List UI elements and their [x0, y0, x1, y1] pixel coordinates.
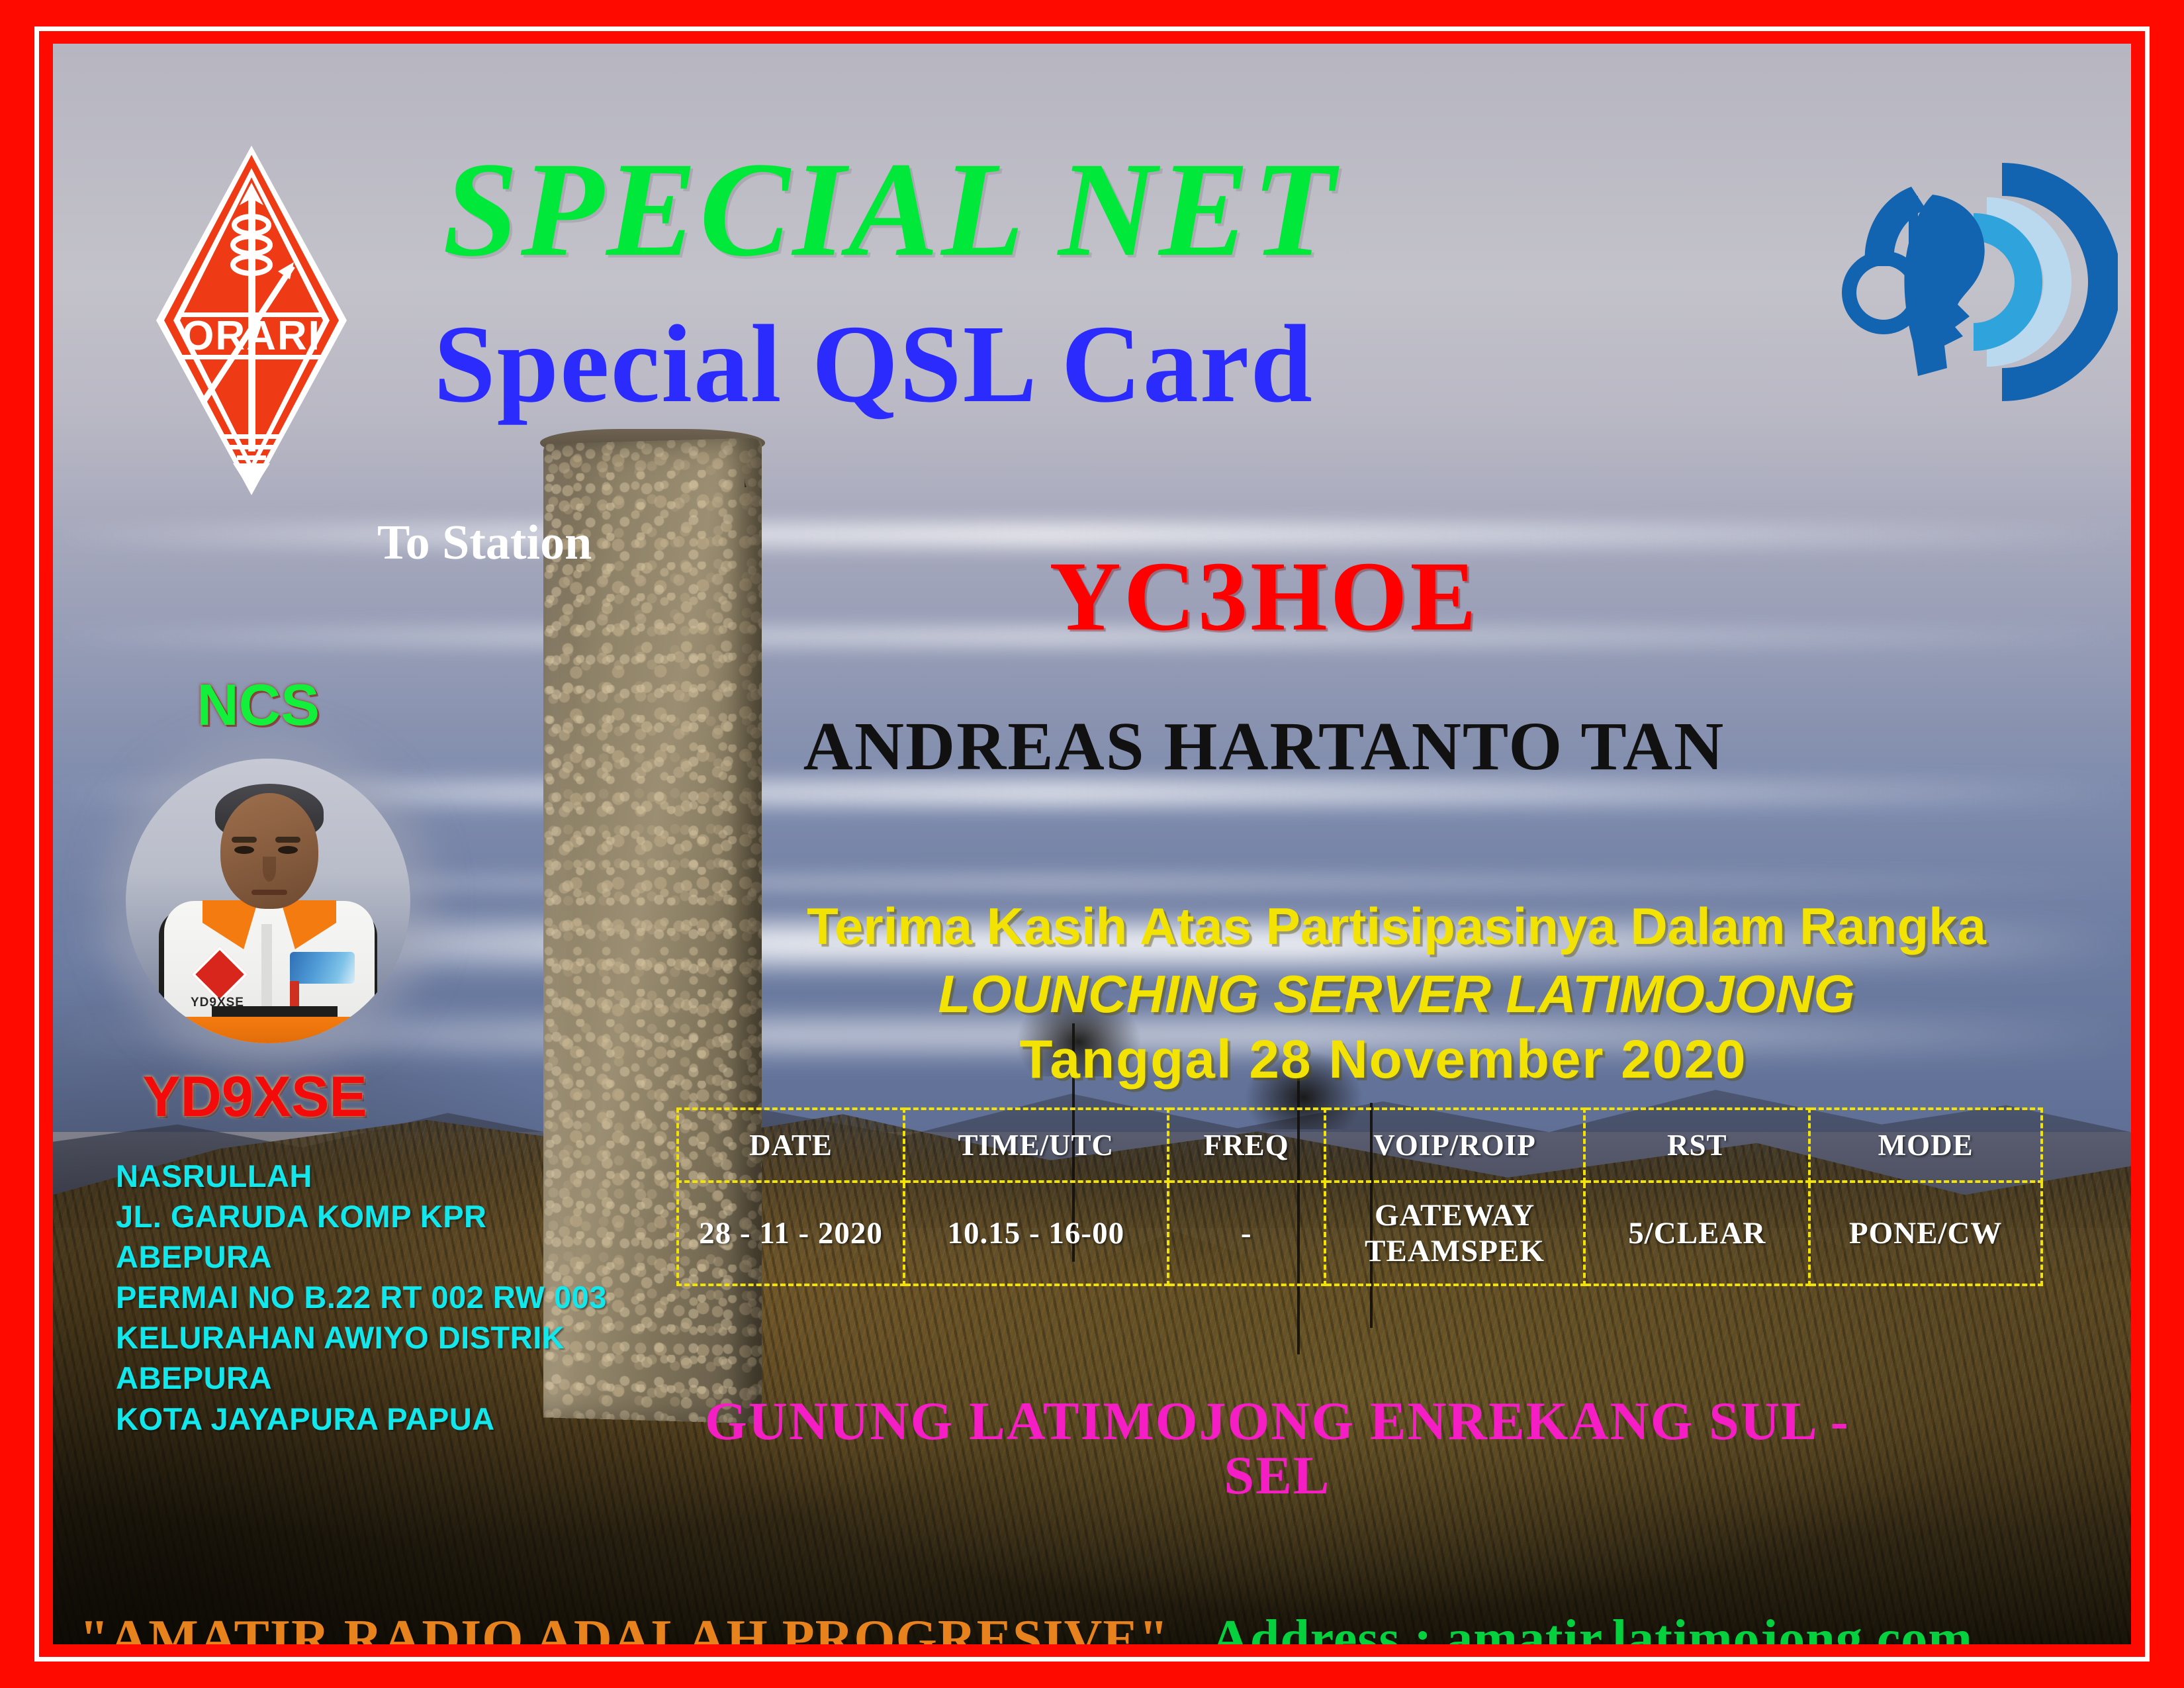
table-row: 28 - 11 - 2020 10.15 - 16-00 - GATEWAY T… — [678, 1182, 2042, 1285]
address-line: JL. GARUDA KOMP KPR — [116, 1196, 639, 1237]
column-header-voip: VOIP/ROIP — [1325, 1109, 1585, 1182]
cell-rst: 5/CLEAR — [1584, 1182, 1809, 1285]
cell-freq: - — [1168, 1182, 1325, 1285]
column-header-date: DATE — [678, 1109, 904, 1182]
address-line: ABEPURA — [116, 1237, 639, 1277]
event-line: LOUNCHING SERVER LATIMOJONG — [768, 965, 2025, 1023]
column-header-rst: RST — [1584, 1109, 1809, 1182]
address-line: ABEPURA — [116, 1358, 639, 1398]
event-date-line: Tanggal 28 November 2020 — [768, 1030, 1999, 1090]
address-line: PERMAI NO B.22 RT 002 RW 003 — [116, 1277, 639, 1317]
event-location-line: GUNUNG LATIMOJONG ENREKANG SUL - SEL — [649, 1394, 1906, 1503]
station-callsign: YC3HOE — [814, 547, 1714, 646]
operator-name: ANDREAS HARTANTO TAN — [748, 712, 1780, 781]
motto-text: "AMATIR RADIO ADALAH PROGRESIVE" — [79, 1613, 1169, 1644]
net-control-role-label: NCS — [132, 676, 384, 734]
cell-time: 10.15 - 16-00 — [904, 1182, 1168, 1285]
cell-voip: GATEWAY TEAMSPEK — [1325, 1182, 1585, 1285]
address-line: KOTA JAYAPURA PAPUA — [116, 1399, 639, 1439]
cell-mode: PONE/CW — [1809, 1182, 2042, 1285]
text-layer: SPECIAL NET Special QSL Card To Station … — [53, 44, 2131, 1644]
address-line: KELURAHAN AWIYO DISTRIK — [116, 1317, 639, 1358]
card-photo-background: YD9XSE — [53, 44, 2131, 1644]
cell-voip-line1: GATEWAY — [1327, 1197, 1583, 1233]
qso-log-table: DATE TIME/UTC FREQ VOIP/ROIP RST MODE 28… — [676, 1107, 2043, 1286]
table-header-row: DATE TIME/UTC FREQ VOIP/ROIP RST MODE — [678, 1109, 2042, 1182]
cell-voip-line2: TEAMSPEK — [1327, 1233, 1583, 1269]
cell-date: 28 - 11 - 2020 — [678, 1182, 904, 1285]
page-title: SPECIAL NET — [53, 142, 1727, 277]
web-address-text: Address : amatir.latimojong.com — [1211, 1613, 1973, 1644]
column-header-mode: MODE — [1809, 1109, 2042, 1182]
column-header-time: TIME/UTC — [904, 1109, 1168, 1182]
page-subtitle: Special QSL Card — [53, 308, 1694, 420]
net-control-callsign: YD9XSE — [99, 1068, 410, 1125]
column-header-freq: FREQ — [1168, 1109, 1325, 1182]
mailing-address-block: NASRULLAH JL. GARUDA KOMP KPR ABEPURA PE… — [116, 1156, 639, 1439]
thanks-line: Terima Kasih Atas Partisipasinya Dalam R… — [768, 898, 2025, 955]
to-station-label: To Station — [377, 515, 592, 571]
qsl-card: YD9XSE — [0, 0, 2184, 1688]
address-line: NASRULLAH — [116, 1156, 639, 1196]
